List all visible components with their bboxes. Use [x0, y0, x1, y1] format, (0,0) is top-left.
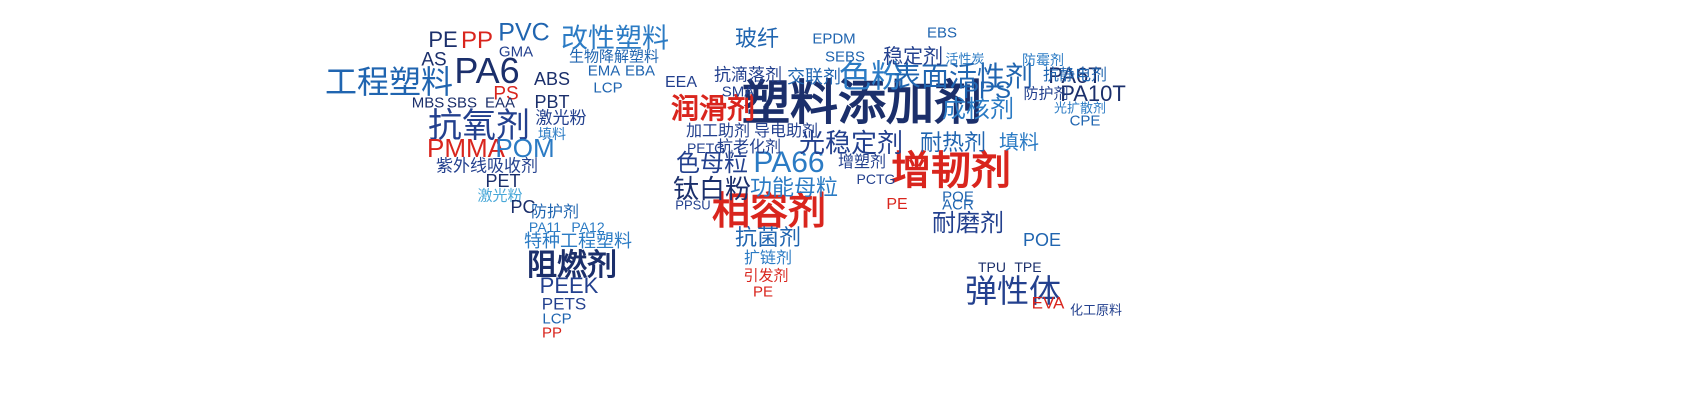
- word-cloud-term: EMA: [588, 64, 621, 79]
- word-cloud-term: 活性炭: [945, 53, 984, 66]
- word-cloud-term: 交联剂: [787, 68, 841, 86]
- word-cloud-term: PPS: [963, 79, 1011, 103]
- word-cloud-term: SBS: [447, 96, 477, 111]
- word-cloud-term: 抗静电剂: [1043, 68, 1107, 84]
- word-cloud-term: 导电助剂: [754, 124, 818, 140]
- word-cloud-term: 激光粉: [536, 110, 587, 127]
- word-cloud-term: 抗老化剂: [717, 140, 781, 156]
- word-cloud-term: EBS: [927, 26, 957, 41]
- word-cloud-term: PP: [461, 29, 493, 53]
- word-cloud-term: 功能母粒: [750, 177, 838, 199]
- word-cloud-term: 增韧剂: [891, 151, 1011, 191]
- word-cloud-term: 抗滴落剂: [714, 67, 782, 84]
- word-cloud-term: 防霉剂: [1022, 53, 1064, 67]
- word-cloud-term: TPE: [1014, 260, 1041, 274]
- word-cloud-term: EEA: [665, 75, 697, 91]
- word-cloud-term: PA12: [571, 220, 604, 234]
- word-cloud-term: 防护剂: [1023, 87, 1068, 102]
- word-cloud-term: EVA: [1032, 295, 1065, 312]
- word-cloud-term: 填料: [999, 133, 1039, 153]
- word-cloud-term: 填料: [538, 127, 566, 141]
- word-cloud-term: MBS: [412, 96, 445, 111]
- word-cloud-term: PE: [753, 285, 773, 300]
- word-cloud-term: SEBS: [825, 50, 865, 65]
- word-cloud-term: PCTG: [857, 172, 896, 186]
- word-cloud-term: TPU: [978, 260, 1006, 274]
- word-cloud-term: PE: [886, 197, 907, 213]
- word-cloud-term: PET: [485, 172, 520, 190]
- word-cloud-term: PP: [542, 326, 562, 341]
- word-cloud-term: GMA: [499, 45, 533, 60]
- word-cloud-term: EAA: [485, 96, 515, 111]
- word-cloud-term: EBA: [625, 64, 655, 79]
- word-cloud-term: 工程塑料: [325, 66, 453, 98]
- word-cloud-term: AS: [421, 51, 446, 70]
- word-cloud-canvas: 塑料添加剂增韧剂相容剂工程塑料抗氧剂阻燃剂弹性体色粉表面活性剂改性塑料PA6PA…: [0, 0, 1707, 400]
- word-cloud-term: 耐磨剂: [932, 212, 1004, 236]
- word-cloud-term: SMA: [722, 85, 755, 100]
- word-cloud-term: PVC: [498, 21, 549, 46]
- word-cloud-term: 引发剂: [743, 269, 788, 284]
- word-cloud-term: 耐热剂: [920, 132, 986, 154]
- word-cloud-term: PE: [428, 29, 457, 51]
- word-cloud-term: 扩链剂: [744, 251, 792, 267]
- word-cloud-term: PA11: [529, 220, 561, 234]
- word-cloud-term: 加工助剂: [686, 124, 750, 140]
- word-cloud-term: ACR: [942, 198, 974, 213]
- word-cloud-term: 玻纤: [735, 28, 779, 50]
- word-cloud-term: 稳定剂: [883, 47, 943, 67]
- word-cloud-term: CPE: [1070, 114, 1101, 129]
- word-cloud-term: POE: [1023, 231, 1061, 249]
- word-cloud-term: PBT: [534, 93, 569, 111]
- word-cloud-term: EPDM: [812, 32, 855, 47]
- word-cloud-term: 增塑剂: [838, 155, 886, 171]
- word-cloud-term: LCP: [593, 81, 622, 96]
- word-cloud-term: PETG: [687, 141, 725, 155]
- word-cloud-term: PC: [510, 198, 535, 216]
- word-cloud-term: ABS: [534, 70, 570, 88]
- word-cloud-term: 抗菌剂: [735, 227, 801, 249]
- word-cloud-term: PPSU: [675, 199, 710, 212]
- word-cloud-term: 化工原料: [1070, 304, 1122, 317]
